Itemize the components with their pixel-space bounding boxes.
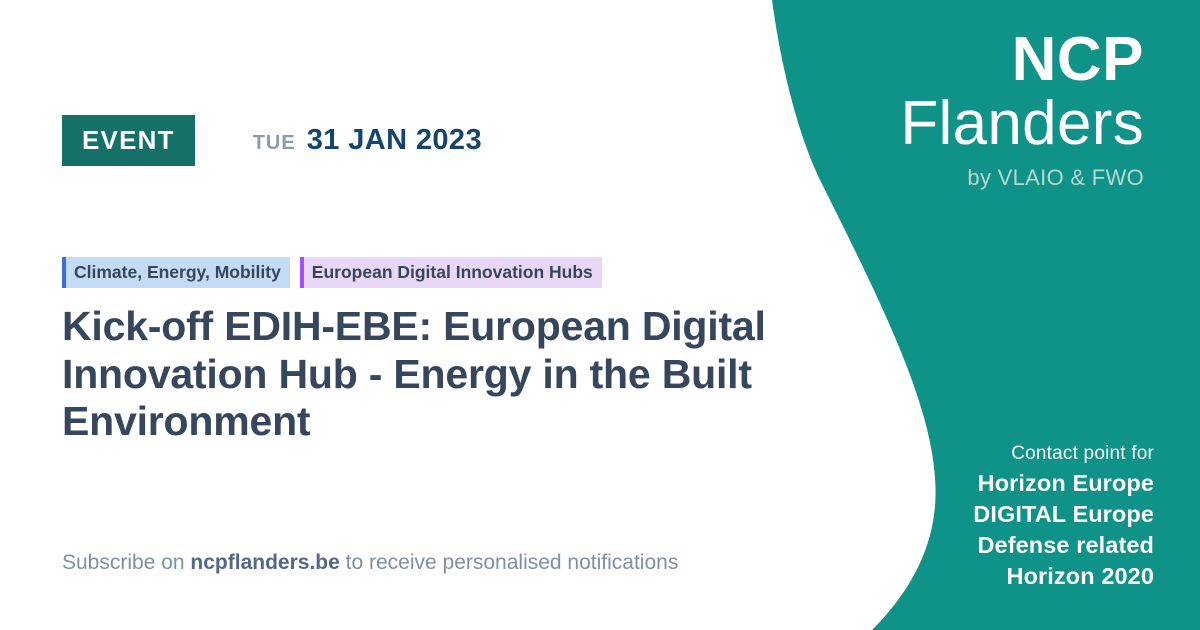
event-title: Kick-off EDIH-EBE: European Digital Inno…: [62, 303, 777, 446]
event-tag-label: European Digital Innovation Hubs: [312, 262, 593, 283]
event-tag-european-digital-innovation-hubs[interactable]: European Digital Innovation Hubs: [300, 257, 602, 288]
contact-point-label: Contact point for: [973, 443, 1154, 465]
subscribe-suffix: to receive personalised notifications: [340, 551, 679, 574]
event-date: TUE 31 JAN 2023: [253, 124, 482, 157]
event-content-column: EVENT TUE 31 JAN 2023 Climate, Energy, M…: [62, 0, 762, 630]
contact-program-defense-related: Defense related: [973, 530, 1154, 561]
event-promo-card: EVENT TUE 31 JAN 2023 Climate, Energy, M…: [0, 0, 1200, 630]
subscribe-domain-link[interactable]: ncpflanders.be: [190, 551, 339, 574]
contact-point-block: Contact point for Horizon Europe DIGITAL…: [973, 443, 1154, 592]
event-date-weekday: TUE: [253, 132, 296, 155]
event-tag-climate-energy-mobility[interactable]: Climate, Energy, Mobility: [62, 257, 290, 288]
event-tag-list: Climate, Energy, Mobility European Digit…: [62, 257, 602, 288]
contact-program-horizon-europe: Horizon Europe: [973, 468, 1154, 499]
contact-program-digital-europe: DIGITAL Europe: [973, 499, 1154, 530]
event-tag-label: Climate, Energy, Mobility: [74, 262, 281, 283]
tag-accent-bar-icon: [300, 257, 304, 288]
event-type-badge: EVENT: [62, 115, 195, 166]
subscribe-callout: Subscribe on ncpflanders.be to receive p…: [62, 551, 678, 575]
ncp-flanders-logo: NCP Flanders by VLAIO & FWO: [900, 28, 1144, 191]
event-date-value: 31 JAN 2023: [307, 124, 482, 157]
logo-line-ncp: NCP: [900, 28, 1144, 91]
event-meta-row: EVENT TUE 31 JAN 2023: [62, 115, 482, 166]
subscribe-prefix: Subscribe on: [62, 551, 190, 574]
logo-byline: by VLAIO & FWO: [900, 165, 1144, 191]
contact-program-horizon-2020: Horizon 2020: [973, 561, 1154, 592]
tag-accent-bar-icon: [62, 257, 66, 288]
logo-line-flanders: Flanders: [900, 91, 1144, 157]
